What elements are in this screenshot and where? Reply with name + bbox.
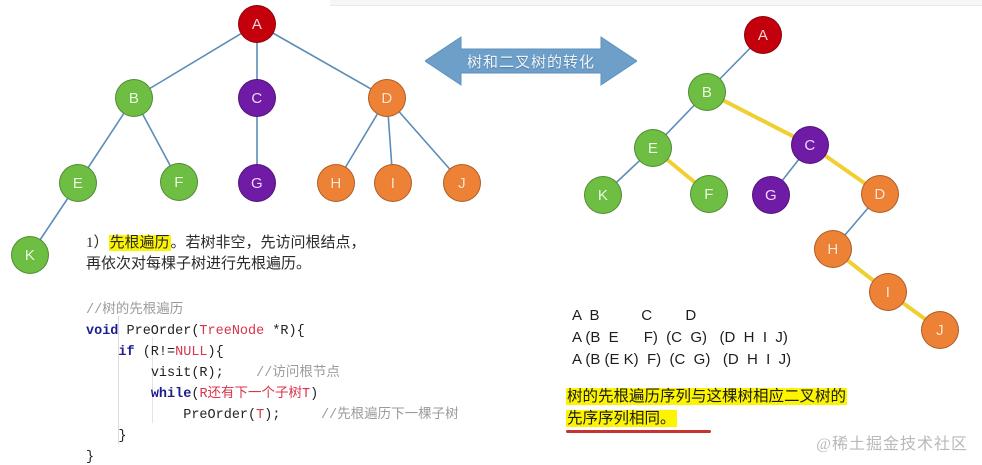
code-token: R还有下一个子树T [199,387,310,402]
conversion-arrow-label: 树和二叉树的转化 [425,33,637,89]
code-token: ); [264,408,280,423]
conclusion-line2-highlight: 先序序列相同。 [566,410,677,427]
general-tree-node-k: K [11,236,49,274]
binary-tree-node-label: C [804,137,815,154]
general-tree-node-label: A [252,16,262,33]
binary-tree-node-c: C [791,126,829,164]
conclusion-line1-highlight: 树的先根遍历序列与这棵树相应二叉树的 [566,388,847,405]
general-tree-node-f: F [160,163,198,201]
general-tree-node-c: C [238,79,276,117]
binary-tree-node-b: B [688,73,726,111]
code-token: } [86,450,94,465]
watermark: @稀土掘金技术社区 [816,430,968,454]
code-token: void [86,324,118,339]
preorder-description: 1）先根遍历。若树非空，先访问根结点， 再依次对每棵子树进行先根遍历。 [86,233,446,276]
preorder-term-highlight: 先根遍历 [109,235,171,251]
code-token: PreOrder( [183,408,256,423]
code-line-8: } [86,447,556,465]
conclusion-line2: 先序序列相同。 [566,408,866,430]
binary-tree-node-label: A [758,27,768,44]
binary-tree-node-f: F [690,175,728,213]
binary-tree-node-label: J [936,322,944,339]
code-line-1: //树的先根遍历 [86,300,556,321]
screenshot-canvas: ABCDEFGHIJK ABECKFGDHIJ 树和二叉树的转化 1）先根遍历。… [0,0,982,465]
general-tree-node-g: G [238,164,276,202]
top-strip-divider [330,5,982,6]
general-tree-node-label: K [25,247,35,264]
code-token: TreeNode [199,324,264,339]
code-token: ){ [208,345,224,360]
binary-tree-node-k: K [584,176,622,214]
code-token: //树的先根遍历 [86,303,183,318]
general-tree-node-label: B [129,90,139,107]
binary-tree-node-label: H [827,241,838,258]
binary-tree-node-e: E [634,129,672,167]
general-tree-node-label: D [381,90,392,107]
code-token: PreOrder( [118,324,199,339]
general-tree-node-label: J [458,175,466,192]
code-token: //访问根节点 [224,366,340,381]
code-token: } [118,429,126,444]
general-tree-node-a: A [238,5,276,43]
sequence-row-1: A B C D [572,305,791,327]
list-number: 1） [86,235,109,251]
binary-tree-node-a: A [744,16,782,54]
conclusion-text: 树的先根遍历序列与这棵树相应二叉树的 先序序列相同。 [566,386,866,431]
preorder-code-block: //树的先根遍历void PreOrder(TreeNode *R){ if (… [86,300,556,465]
general-tree-node-d: D [368,79,406,117]
code-line-5: while(R还有下一个子树T) [86,384,556,405]
general-tree-node-h: H [317,164,355,202]
code-line-2: void PreOrder(TreeNode *R){ [86,321,556,342]
general-tree-node-b: B [115,79,153,117]
code-line-7: } [86,426,556,447]
general-tree-node-label: F [174,174,183,191]
code-token: //先根遍历下一棵子树 [280,408,458,423]
code-line-3: if (R!=NULL){ [86,342,556,363]
binary-tree-node-label: F [704,186,713,203]
general-tree-node-label: G [251,175,263,192]
code-token: NULL [175,345,207,360]
code-token: visit(R); [151,366,224,381]
conversion-arrow-banner: 树和二叉树的转化 [425,33,637,89]
binary-tree-node-label: G [765,187,777,204]
preorder-description-line2: 再依次对每棵子树进行先根遍历。 [86,254,446,275]
code-token: while [151,387,192,402]
red-underline [566,430,711,433]
binary-tree-node-label: I [886,284,890,301]
general-tree-node-j: J [443,164,481,202]
sequence-row-2: A (B E F) (C G) (D H I J) [572,327,791,349]
general-tree-edge-A-D [257,24,387,98]
binary-tree-node-d: D [861,175,899,213]
general-tree-node-i: I [374,164,412,202]
general-tree-node-label: H [330,175,341,192]
code-line-4: visit(R); //访问根节点 [86,363,556,384]
general-tree-node-label: I [391,175,395,192]
binary-tree-node-label: K [598,187,608,204]
binary-tree-node-g: G [752,176,790,214]
preorder-sequence-rows: A B C DA (B E F) (C G) (D H I J)A (B (E … [572,305,791,371]
preorder-description-line1: 1）先根遍历。若树非空，先访问根结点， [86,233,446,254]
general-tree-node-label: E [73,175,83,192]
code-token: (R!= [135,345,176,360]
binary-tree-node-j: J [921,311,959,349]
conclusion-line1: 树的先根遍历序列与这棵树相应二叉树的 [566,386,866,408]
binary-tree-node-label: E [648,140,658,157]
binary-tree-node-h: H [814,230,852,268]
sequence-row-3: A (B (E K) F) (C G) (D H I J) [572,349,791,371]
code-token: if [118,345,134,360]
preorder-description-rest: 。若树非空，先访问根结点， [171,235,366,251]
binary-tree-node-label: B [702,84,712,101]
binary-tree-node-label: D [874,186,885,203]
code-line-6: PreOrder(T); //先根遍历下一棵子树 [86,405,556,426]
binary-tree-node-i: I [869,273,907,311]
code-token: *R){ [264,324,305,339]
general-tree-node-e: E [59,164,97,202]
general-tree-node-label: C [251,90,262,107]
code-token: ) [310,387,318,402]
general-tree-edge-A-B [134,24,257,98]
